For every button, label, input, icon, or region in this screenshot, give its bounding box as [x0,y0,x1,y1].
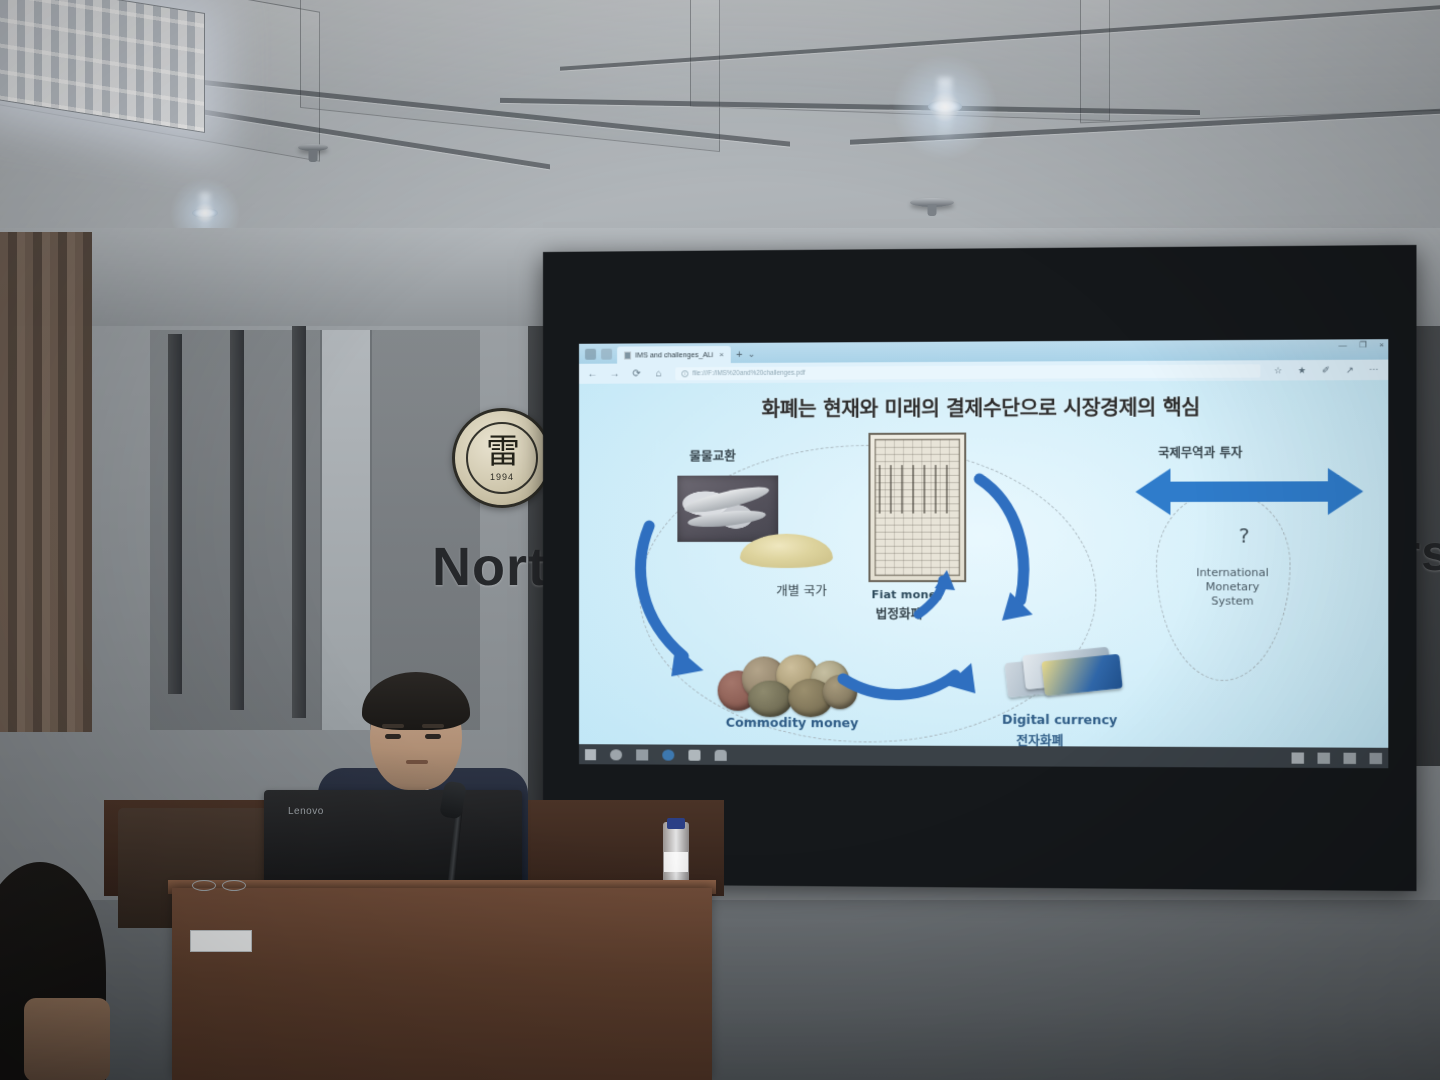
glasses-lens [192,880,216,891]
light-beam [938,77,952,141]
pdf-slide: 화폐는 현재와 미래의 결제수단으로 시장경제의 핵심 물물교환 개별 국가 F… [579,380,1388,768]
refresh-icon[interactable]: ⟳ [631,368,642,379]
keyboard-icon[interactable] [1292,752,1304,763]
seal-year: 1994 [490,472,514,482]
wall-slat [292,326,306,718]
browser-tab[interactable]: IMS and challenges_ALi × [617,346,731,364]
sprinkler-head [910,198,954,207]
minimize-button[interactable]: — [1338,340,1346,349]
screen-border-right [1388,245,1416,891]
ims-label-line3: System [1181,594,1284,608]
browser-window: IMS and challenges_ALi × + ⌄ — ❐ × ← → ⟳ [579,339,1388,768]
ceiling [0,0,1440,250]
ims-label-line1: International [1181,566,1284,580]
projection-screen: IMS and challenges_ALi × + ⌄ — ❐ × ← → ⟳ [543,245,1416,891]
address-bar[interactable]: i file:///F:/IMS%20and%20challenges.pdf [675,364,1260,380]
task-view-icon[interactable] [636,749,648,760]
set-tabs-aside-icon[interactable] [601,349,612,360]
presenter-eyebrow [422,724,444,728]
presenter-eye [385,734,401,739]
pdf-document-icon [624,351,631,359]
screen-border-top [543,245,1416,344]
eyeglasses [192,880,250,892]
presenter-eyebrow [382,724,404,728]
close-icon[interactable]: × [719,350,724,359]
podium-name-plate [190,930,252,952]
presenter-hair [362,672,470,730]
international-trade-label: 국제무역과 투자 [1158,444,1242,462]
seal-glyph: 雷 [486,435,518,469]
store-icon[interactable] [715,749,727,760]
chevron-down-icon[interactable]: ⌄ [748,349,756,360]
presenter-mouth [406,760,428,764]
audience-member-neck [24,998,110,1080]
screen-border-left [543,252,579,885]
maximize-button[interactable]: ❐ [1359,340,1366,349]
windows-taskbar [579,744,1388,768]
reading-view-icon[interactable]: ✐ [1320,364,1332,375]
favorites-list-icon[interactable]: ★ [1296,365,1308,376]
system-tray[interactable] [1292,752,1383,764]
ceiling-downlight [928,100,962,113]
wall-slat [230,330,244,710]
bottle-cap [667,818,685,829]
edge-icon[interactable] [662,749,674,760]
address-bar-value: file:///F:/IMS%20and%20challenges.pdf [692,369,805,377]
home-icon[interactable]: ⌂ [653,368,664,379]
wall-slat [168,334,182,694]
notifications-icon[interactable] [1370,752,1383,763]
wall-panel [150,330,480,730]
laptop-brand-label: Lenovo [288,806,324,817]
network-icon[interactable] [1318,752,1330,763]
app-icon [585,349,596,360]
start-icon[interactable] [585,749,596,760]
more-menu-icon[interactable]: ⋯ [1367,364,1380,375]
share-icon[interactable]: ↗ [1344,364,1356,375]
lecture-hall-photo: 雷 1994 North ers IMS and challenges_ALi … [0,0,1440,1080]
window-controls[interactable]: — ❐ × [1338,340,1384,349]
university-seal-logo: 雷 1994 [452,408,552,508]
bottle-label [664,852,688,872]
volume-icon[interactable] [1344,752,1356,763]
new-tab-button[interactable]: + [736,349,742,361]
glasses-lens [222,880,246,891]
ims-label-line2: Monetary [1181,580,1284,594]
back-icon[interactable]: ← [587,368,598,379]
favorite-star-icon[interactable]: ☆ [1272,365,1284,376]
window-curtain [0,232,92,732]
sprinkler-head [298,144,328,151]
seal-inner-ring: 雷 1994 [466,422,538,494]
info-icon: i [681,370,688,377]
fluorescent-light-fixture [0,0,205,133]
screen-surface: IMS and challenges_ALi × + ⌄ — ❐ × ← → ⟳ [579,339,1388,768]
wall-light-panel [320,330,372,730]
forward-icon[interactable]: → [609,368,620,379]
double-headed-arrow [1135,466,1363,517]
explorer-icon[interactable] [688,749,700,760]
browser-tab-title: IMS and challenges_ALi [635,350,713,359]
question-mark-label: ? [1239,523,1250,547]
ceiling-downlight [192,208,218,218]
search-icon[interactable] [610,749,622,760]
presenter-eye [425,734,441,739]
browser-titlebar: IMS and challenges_ALi × + ⌄ — ❐ × [579,339,1388,364]
close-button[interactable]: × [1379,340,1384,349]
podium [172,888,712,1080]
